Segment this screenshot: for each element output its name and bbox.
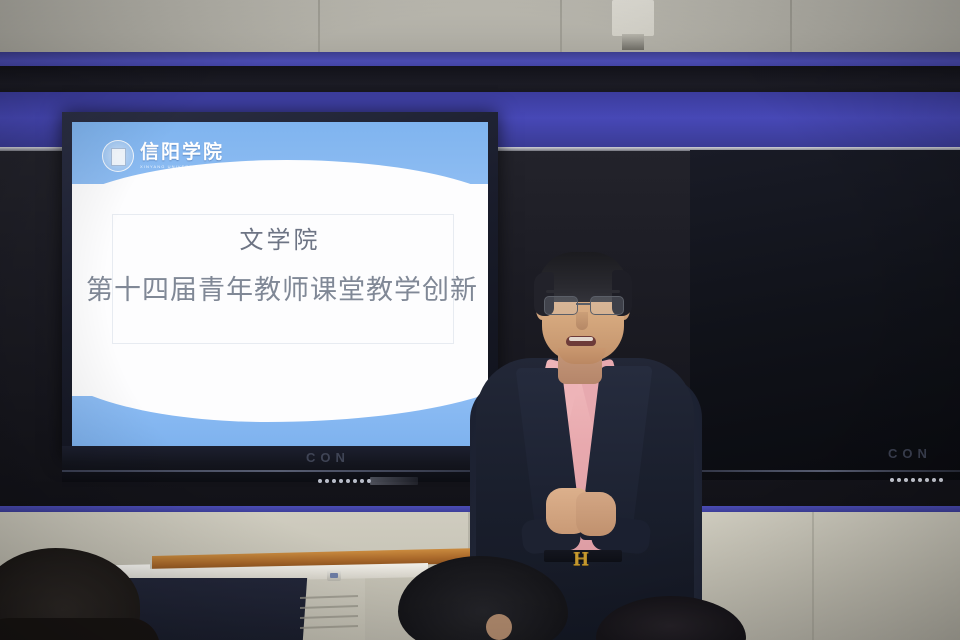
university-name-en: XINYANG UNIVERSITY	[140, 165, 224, 169]
speaker-hand-right	[576, 492, 616, 536]
display-brand-right: CON	[888, 446, 932, 461]
audience-shoulder-left	[0, 618, 160, 640]
secondary-display	[690, 150, 960, 480]
ceiling-camera-icon	[612, 0, 654, 36]
university-name: 信阳学院 XINYANG UNIVERSITY	[140, 143, 224, 169]
university-crest-icon	[102, 140, 134, 172]
speaker-nose	[576, 312, 588, 330]
secondary-display-line	[690, 470, 960, 472]
lecture-hall-photo: 信阳学院 XINYANG UNIVERSITY 文学院 第十四届青年教师课堂教学…	[0, 0, 960, 640]
wall-device-icon[interactable]	[327, 570, 341, 581]
display-brand-left: CON	[306, 450, 350, 465]
presentation-slide: 信阳学院 XINYANG UNIVERSITY 文学院 第十四届青年教师课堂教学…	[72, 122, 488, 448]
wall-seam	[812, 512, 814, 640]
ceiling-seam	[790, 0, 792, 58]
university-name-cn: 信阳学院	[140, 143, 224, 162]
slide-title-line1: 文学院	[72, 220, 488, 255]
secondary-indicator-dots	[890, 478, 943, 482]
speaker-eyebrow-right	[594, 290, 620, 293]
ceiling-seam	[560, 0, 562, 58]
display-control-strip[interactable]	[370, 477, 418, 485]
speaker-belt-buckle: H	[568, 549, 594, 569]
display-bezel-bottom	[62, 446, 498, 482]
speaker-eyebrow-left	[546, 290, 572, 293]
display-indicator-dots	[318, 479, 371, 483]
podium-vents	[300, 596, 360, 640]
slide-title-line2: 第十四届青年教师课堂教学创新	[72, 268, 488, 307]
ceiling-seam	[318, 0, 320, 58]
camera-neck	[622, 34, 644, 50]
display-bezel-line	[62, 470, 498, 472]
audience-ear-center	[486, 614, 512, 640]
speaker-mouth	[566, 336, 596, 346]
university-logo: 信阳学院 XINYANG UNIVERSITY	[102, 140, 224, 172]
ceiling	[0, 0, 960, 58]
